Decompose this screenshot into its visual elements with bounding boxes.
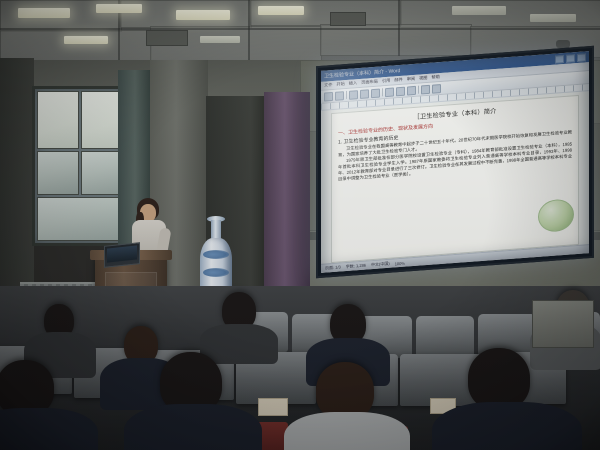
- align-center-icon[interactable]: [396, 86, 405, 96]
- paste-icon[interactable]: [324, 91, 333, 101]
- window: [32, 86, 128, 246]
- status-page: 页面: 1/3: [325, 264, 341, 271]
- menu-item-mailings[interactable]: 邮件: [394, 77, 402, 84]
- ceiling-light: [452, 6, 506, 15]
- find-icon[interactable]: [432, 84, 441, 94]
- align-left-icon[interactable]: [385, 87, 394, 97]
- menu-item-help[interactable]: 帮助: [432, 74, 440, 81]
- bold-icon[interactable]: [349, 90, 358, 100]
- status-words: 字数: 1,286: [346, 263, 366, 270]
- audience-shoulders-foreground: [124, 404, 262, 450]
- vase-pattern: [203, 250, 229, 259]
- menu-item-layout[interactable]: 页面布局: [361, 79, 378, 86]
- underline-icon[interactable]: [371, 88, 380, 98]
- audience-shoulders-foreground: [432, 402, 582, 450]
- ceiling-grid-line: [398, 0, 400, 56]
- ceiling-grid-line: [0, 28, 600, 30]
- ceiling-light: [258, 6, 304, 15]
- window-pane: [37, 151, 79, 195]
- ceiling-light: [530, 14, 576, 22]
- wall-air-conditioner: [532, 300, 594, 348]
- menu-item-file[interactable]: 文件: [324, 82, 332, 89]
- laptop-screen: [107, 245, 137, 262]
- toolbar-divider: [346, 91, 347, 99]
- audience-shoulders-foreground: [0, 408, 98, 450]
- window-pane: [37, 197, 123, 241]
- seat-back: [416, 316, 474, 358]
- window-controls[interactable]: [555, 53, 586, 63]
- menu-item-insert[interactable]: 插入: [349, 80, 357, 87]
- window-pane: [37, 91, 79, 149]
- maximize-icon[interactable]: [566, 54, 575, 63]
- ceiling-light: [96, 4, 142, 13]
- bullet-list-icon[interactable]: [407, 85, 416, 95]
- ceiling-light: [64, 36, 108, 44]
- ceiling-light: [18, 8, 70, 18]
- window-pane: [81, 91, 123, 149]
- purple-curtain: [264, 92, 310, 292]
- projected-document-window: 卫生检验专业（本科）简介 - Word 文件 开始 插入 页面布局 引用 邮件 …: [321, 51, 589, 273]
- university-seal-logo-icon: [538, 198, 574, 233]
- status-language: 中文(中国): [371, 261, 390, 268]
- close-icon[interactable]: [577, 53, 586, 62]
- seat-name-card: [258, 398, 288, 416]
- font-icon[interactable]: [335, 91, 344, 101]
- menu-item-references[interactable]: 引用: [382, 78, 390, 85]
- menu-item-review[interactable]: 审阅: [407, 76, 415, 83]
- styles-icon[interactable]: [421, 84, 430, 94]
- document-page: ［卫生检验专业（本科）简介 一、卫生检验专业的历史、现状及发展方向 1. 卫生检…: [331, 95, 579, 263]
- audience-shoulders: [200, 324, 278, 364]
- italic-icon[interactable]: [360, 89, 369, 99]
- ceiling-vent: [146, 30, 188, 46]
- ceiling-light: [200, 36, 240, 43]
- ceiling-grid-line: [248, 0, 250, 62]
- toolbar-divider: [382, 88, 383, 96]
- ceiling-vent: [330, 12, 366, 26]
- ceiling-light: [176, 10, 230, 20]
- menu-item-view[interactable]: 视图: [419, 75, 427, 82]
- menu-item-home[interactable]: 开始: [336, 81, 344, 88]
- minimize-icon[interactable]: [555, 54, 564, 63]
- vase-pattern: [203, 268, 229, 277]
- audience-shoulders-foreground: [284, 412, 410, 450]
- left-wall-shadow: [0, 58, 34, 298]
- audience-head-foreground: [468, 348, 530, 410]
- toolbar-divider: [418, 86, 419, 94]
- projection-screen: 卫生检验专业（本科）简介 - Word 文件 开始 插入 页面布局 引用 邮件 …: [316, 46, 594, 278]
- status-zoom[interactable]: 100%: [395, 260, 405, 266]
- audience-area: [0, 286, 600, 450]
- presenter-laptop: [104, 242, 140, 268]
- lecture-hall-photo: 卫生检验专业（本科）简介 - Word 文件 开始 插入 页面布局 引用 邮件 …: [0, 0, 600, 450]
- window-pane: [81, 151, 123, 195]
